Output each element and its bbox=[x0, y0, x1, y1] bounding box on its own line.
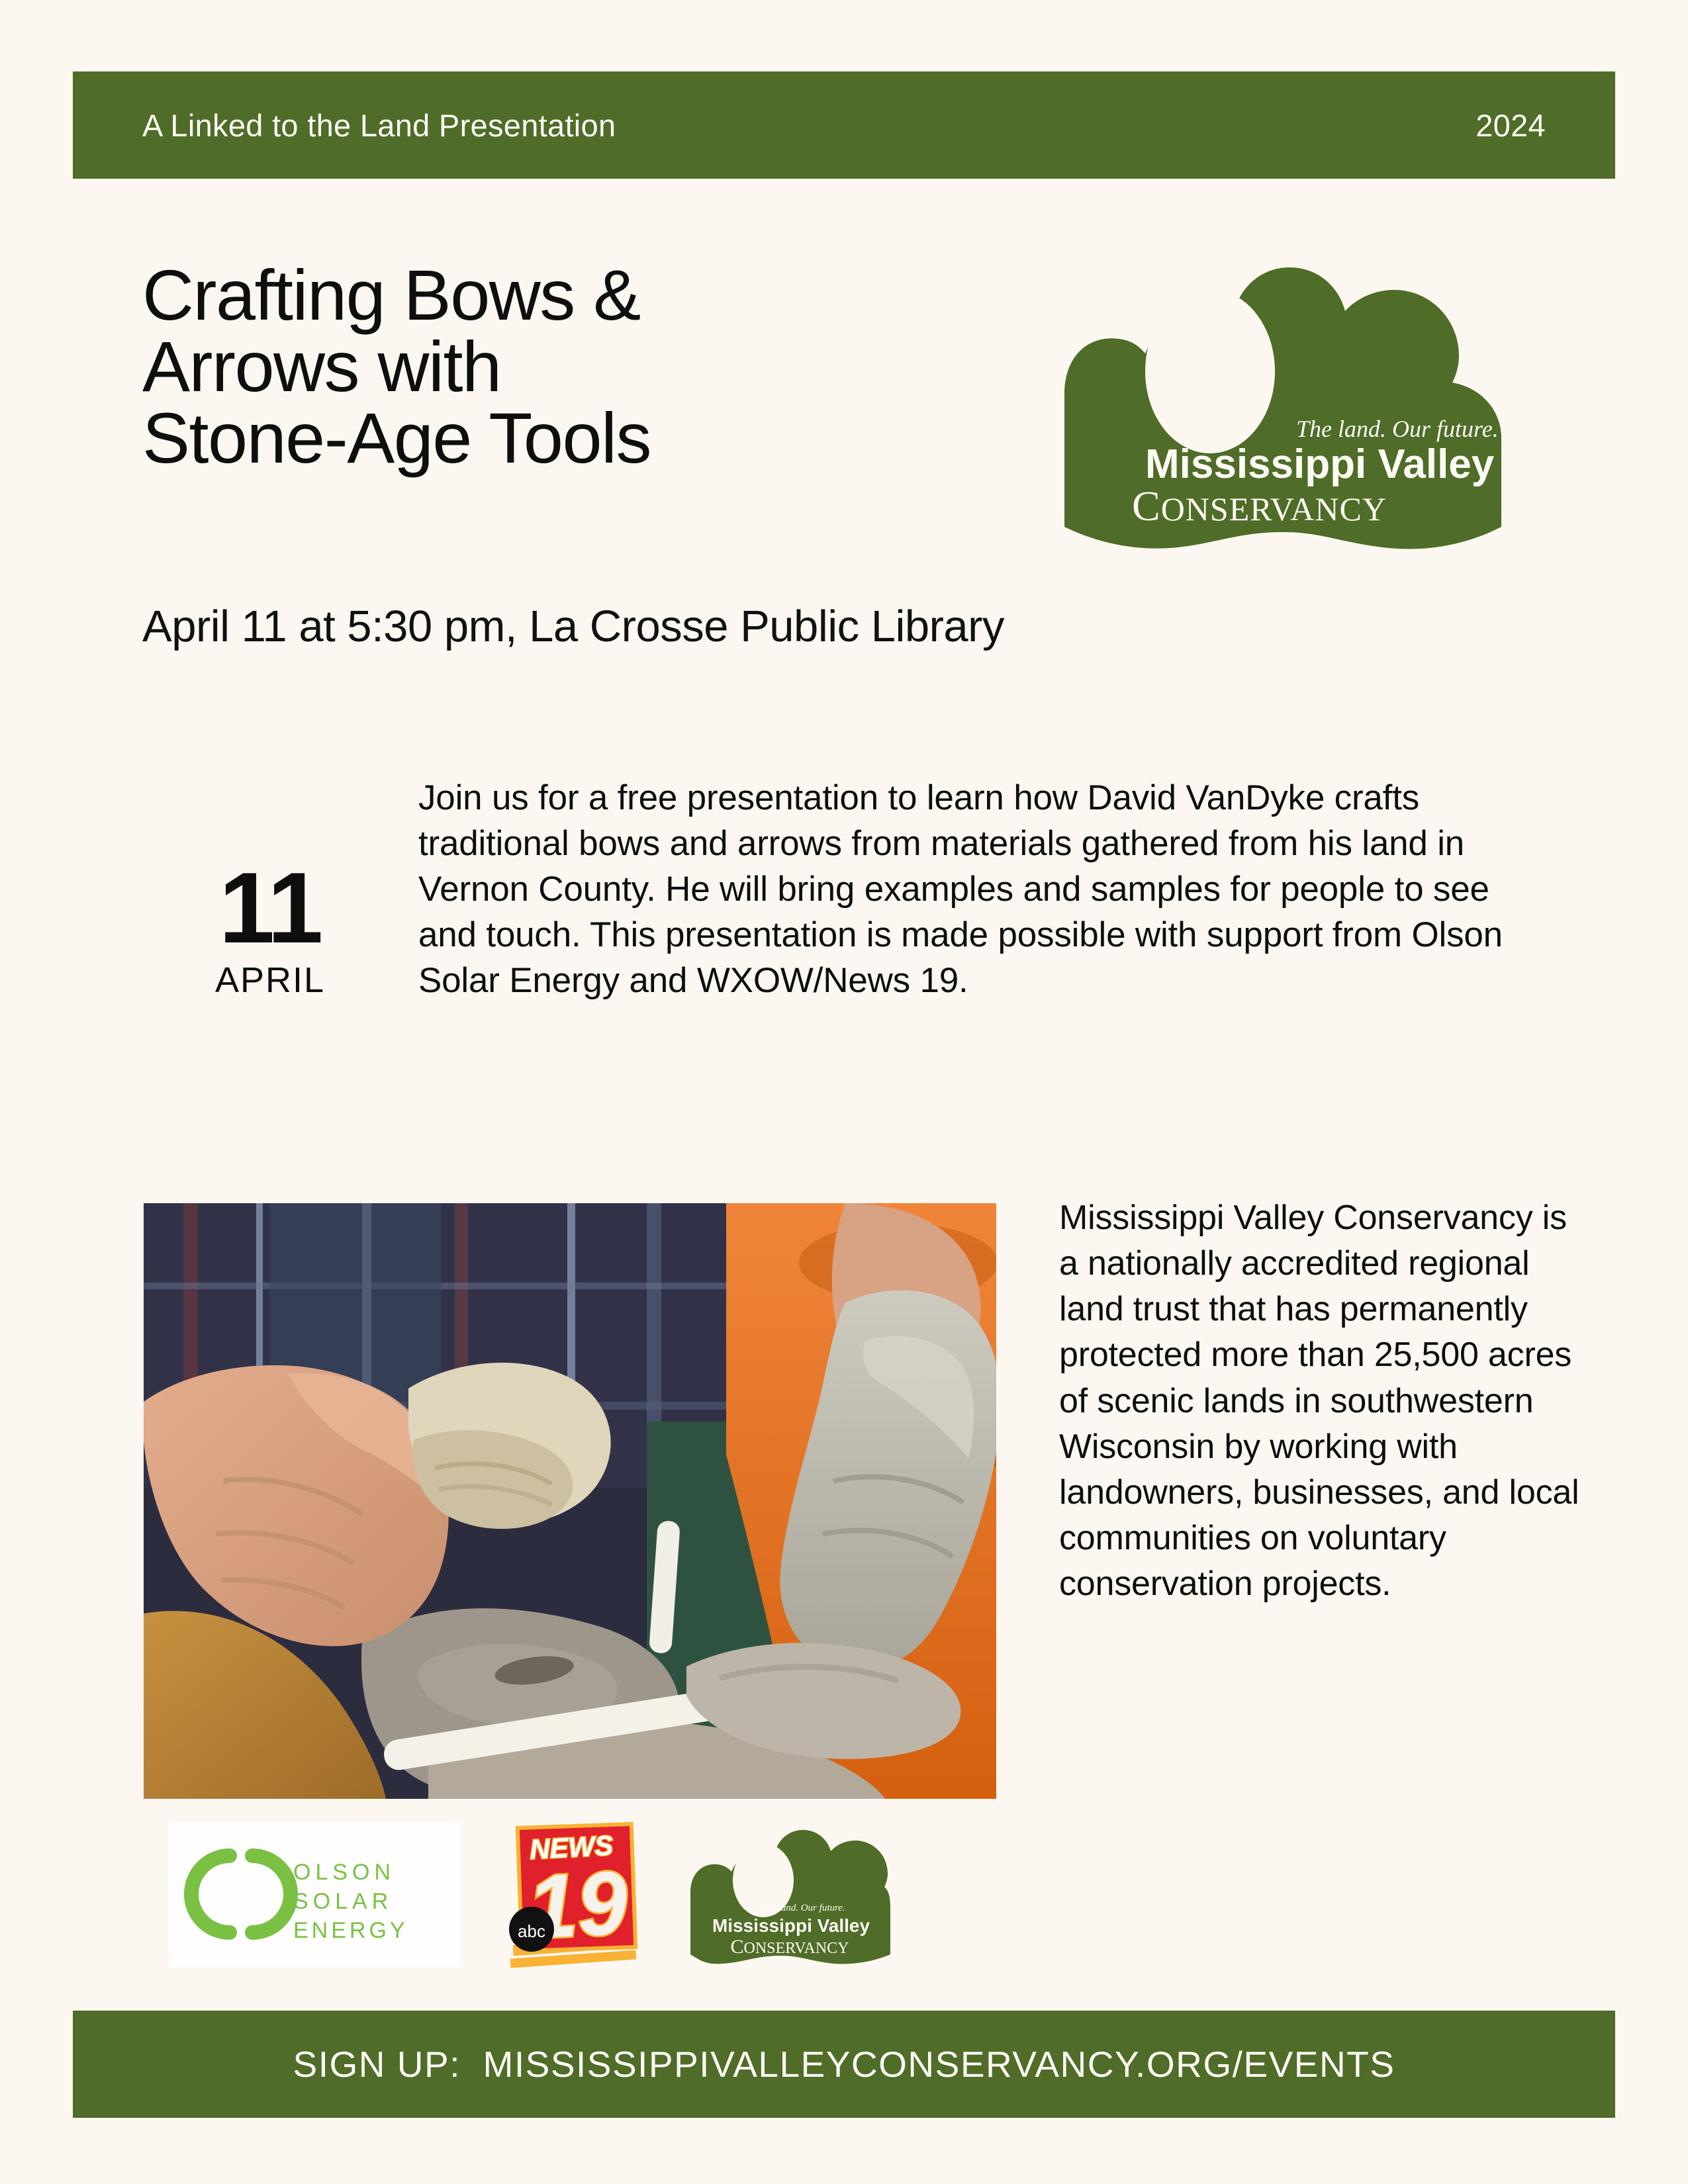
page-title-line-2: Arrows with bbox=[142, 331, 1036, 402]
mvc-logo: The land. Our future. Mississippi Valley… bbox=[1058, 242, 1528, 567]
page-title: Crafting Bows & Arrows with Stone-Age To… bbox=[142, 259, 1036, 474]
footer-bar: SIGN UP: MISSISSIPPIVALLEYCONSERVANCY.OR… bbox=[73, 2011, 1615, 2118]
header-kicker: A Linked to the Land Presentation bbox=[142, 107, 616, 144]
intro-paragraph: Join us for a free presentation to learn… bbox=[418, 776, 1544, 1003]
sponsor-logo-strip: OLSON SOLAR ENERGY NEWS 19 abc bbox=[169, 1821, 893, 1967]
sponsor-mississippi-valley-conservancy: The land. Our future. Mississippi Valley… bbox=[686, 1818, 893, 1970]
date-badge: 11 APRIL bbox=[184, 860, 356, 1001]
olson-text-line-1: OLSON bbox=[293, 1860, 395, 1885]
olson-text-line-2: SOLAR bbox=[293, 1889, 393, 1914]
poster-root: A Linked to the Land Presentation 2024 C… bbox=[0, 0, 1688, 2184]
signup-url-text[interactable]: SIGN UP: MISSISSIPPIVALLEYCONSERVANCY.OR… bbox=[293, 2043, 1395, 2085]
org-blurb: Mississippi Valley Conservancy is a nati… bbox=[1059, 1195, 1582, 1607]
mvc-logo-name-line-1: Mississippi Valley bbox=[1145, 441, 1495, 487]
header-year: 2024 bbox=[1476, 107, 1546, 144]
page-title-line-3: Stone-Age Tools bbox=[142, 402, 1036, 474]
sponsor-news-19: NEWS 19 abc bbox=[500, 1818, 647, 1970]
mvc-small-name-line-1: Mississippi Valley bbox=[712, 1915, 870, 1936]
header-bar: A Linked to the Land Presentation 2024 bbox=[73, 71, 1615, 179]
mvc-logo-tagline: The land. Our future. bbox=[1296, 416, 1499, 442]
abc-logo-icon: abc bbox=[509, 1907, 554, 1952]
event-photo bbox=[144, 1203, 996, 1799]
olson-split-circle-icon bbox=[191, 1856, 291, 1933]
mvc-small-tagline: The land. Our future. bbox=[761, 1903, 845, 1913]
event-subtitle: April 11 at 5:30 pm, La Crosse Public Li… bbox=[142, 601, 1004, 652]
date-badge-day: 11 bbox=[184, 860, 356, 956]
olson-text-line-3: ENERGY bbox=[293, 1918, 408, 1943]
sponsor-olson-solar-energy: OLSON SOLAR ENERGY bbox=[169, 1821, 460, 1967]
page-title-line-1: Crafting Bows & bbox=[142, 259, 1036, 331]
svg-text:abc: abc bbox=[518, 1921, 545, 1941]
date-badge-month: APRIL bbox=[184, 960, 356, 1001]
